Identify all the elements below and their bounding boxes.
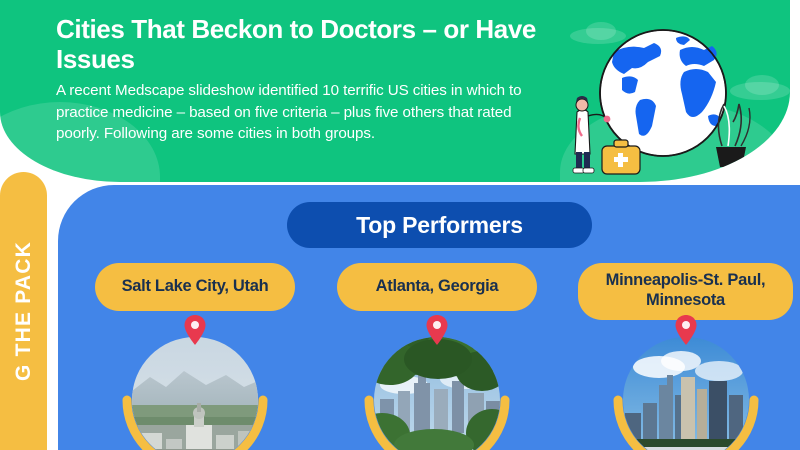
city-photo-wrap <box>374 337 500 450</box>
city-card[interactable]: Atlanta, Georgia <box>337 263 537 311</box>
city-name-pill[interactable]: Salt Lake City, Utah <box>95 263 295 311</box>
map-pin-icon <box>675 315 697 345</box>
map-pin-icon <box>426 315 448 345</box>
city-name-label: Atlanta, Georgia <box>376 277 499 297</box>
top-performers-banner-label: Top Performers <box>356 212 523 239</box>
city-card[interactable]: Minneapolis-St. Paul, Minnesota <box>578 263 793 320</box>
city-name-pill[interactable]: Minneapolis-St. Paul, Minnesota <box>578 263 793 320</box>
top-performers-banner: Top Performers <box>287 202 592 248</box>
city-card[interactable]: Salt Lake City, Utah <box>95 263 295 311</box>
city-name-pill[interactable]: Atlanta, Georgia <box>337 263 537 311</box>
city-name-label: Minneapolis-St. Paul, Minnesota <box>590 271 781 311</box>
city-photo-wrap <box>623 337 749 450</box>
map-pin-icon <box>184 315 206 345</box>
city-photo-wrap <box>132 337 258 450</box>
infographic-canvas: Cities That Beckon to Doctors – or Have … <box>0 0 800 450</box>
side-tab-leading-the-pack[interactable]: G THE PACK <box>0 172 47 450</box>
side-tab-label: G THE PACK <box>12 241 36 381</box>
city-name-label: Salt Lake City, Utah <box>122 277 269 297</box>
